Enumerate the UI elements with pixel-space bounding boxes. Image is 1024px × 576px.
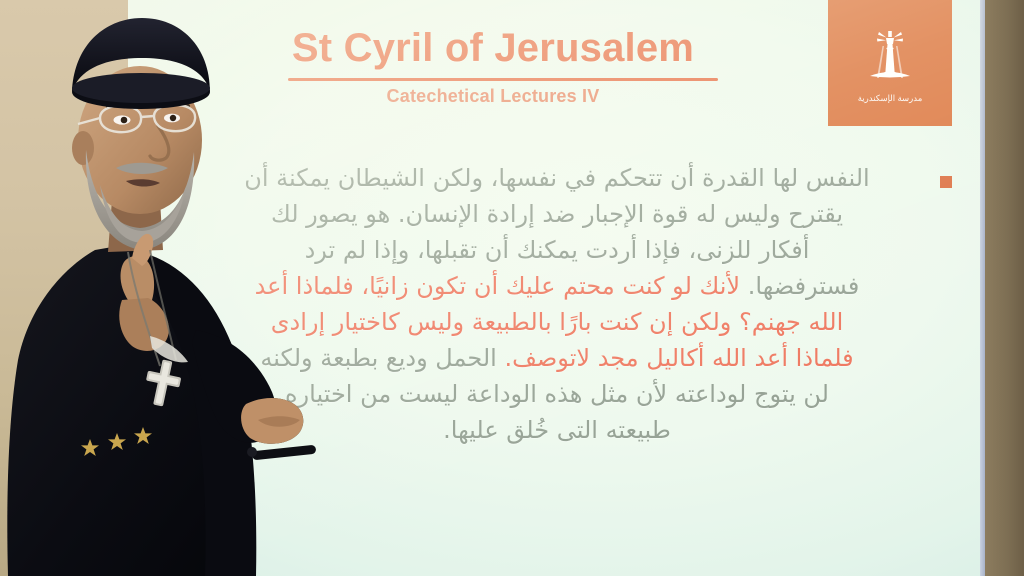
- body-line-gray-part: فسترفضها.: [748, 272, 860, 300]
- wall-right: [984, 0, 1024, 576]
- bullet-square-icon: [940, 176, 952, 188]
- screenshot-stage: مدرسة الإسكندرية St Cyril of Jerusalem C…: [0, 0, 1024, 576]
- presenter-figure: [0, 0, 430, 576]
- body-line-red-part: فلماذا أعد الله أكاليل مجد لاتوصف.: [504, 344, 853, 372]
- logo-arabic-caption: مدرسة الإسكندرية: [858, 93, 923, 104]
- clerical-cap: [72, 18, 210, 109]
- laser-pointer: [252, 445, 317, 461]
- lighthouse-icon: [856, 22, 924, 92]
- screen-right-edge: [980, 0, 985, 576]
